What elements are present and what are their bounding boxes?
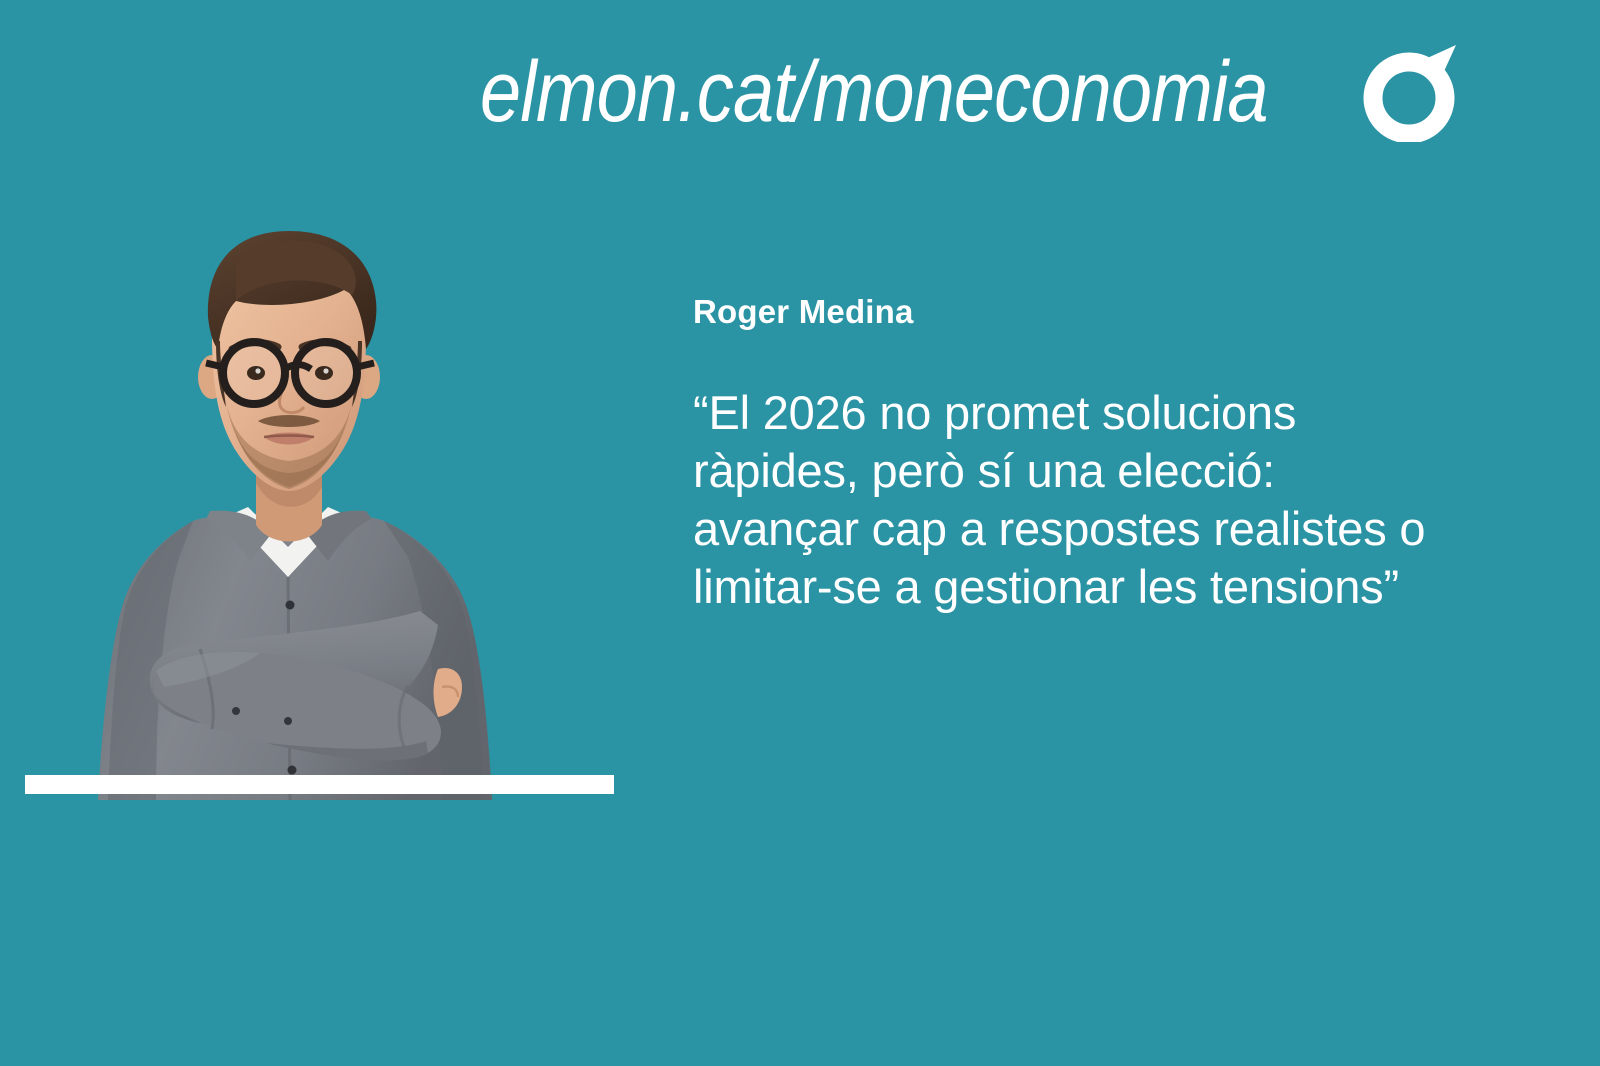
white-divider-rule bbox=[25, 775, 614, 794]
speaker-name: Roger Medina bbox=[693, 292, 1493, 332]
quote-line-1: “El 2026 no promet solucions bbox=[693, 384, 1493, 442]
quote-text: “El 2026 no promet solucions ràpides, pe… bbox=[693, 384, 1493, 616]
quote-card: elmon.cat/moneconomia bbox=[0, 0, 1600, 1066]
quote-line-2: ràpides, però sí una elecció: bbox=[693, 442, 1493, 500]
quote-line-3: avançar cap a respostes realistes o bbox=[693, 500, 1493, 558]
card-header: elmon.cat/moneconomia bbox=[0, 0, 1600, 185]
quote-line-4: limitar-se a gestionar les tensions” bbox=[693, 558, 1493, 616]
elmon-circle-logo-icon bbox=[1361, 42, 1461, 142]
site-url-text: elmon.cat/moneconomia bbox=[480, 44, 1194, 140]
speaker-portrait-image bbox=[60, 225, 530, 800]
quote-block: Roger Medina “El 2026 no promet solucion… bbox=[693, 292, 1493, 616]
